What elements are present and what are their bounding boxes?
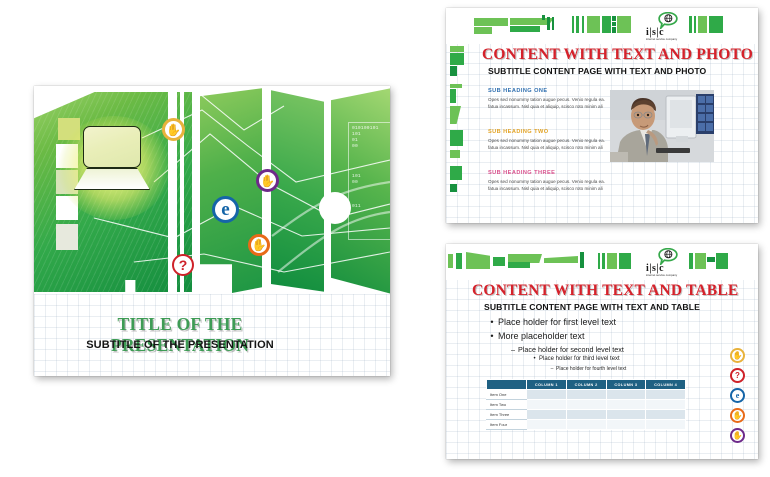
- list-item-label: Place holder for second level text: [518, 344, 624, 355]
- sub-heading-one: SUB HEADING ONE: [488, 88, 548, 94]
- table-cell[interactable]: [606, 400, 646, 410]
- binary-digits: 010100101 101 01 00 101 00 011: [352, 126, 379, 210]
- sub-heading-three: SUB HEADING THREE: [488, 170, 555, 176]
- row-label: Item One: [487, 390, 527, 400]
- row-label: Item Two: [487, 400, 527, 410]
- column-header-4: COLUMN 4: [646, 380, 686, 390]
- handshake-purple-icon[interactable]: ✋: [256, 169, 279, 192]
- row-label: Item Four: [487, 420, 527, 430]
- table-cell[interactable]: [606, 410, 646, 420]
- table-cell[interactable]: [527, 400, 567, 410]
- list-item: – Place holder for fourth level text: [548, 365, 716, 374]
- table-cell[interactable]: [646, 420, 686, 430]
- list-item-label: Place holder for third level text: [539, 355, 620, 365]
- sub-heading-two: SUB HEADING TWO: [488, 129, 549, 135]
- bullet-marker: •: [530, 355, 539, 365]
- hand-orange-icon[interactable]: ✋: [730, 408, 745, 423]
- column-header-2: COLUMN 2: [566, 380, 606, 390]
- slide-heading: CONTENT WITH TEXT AND PHOTO: [482, 46, 753, 64]
- handshake-purple-icon[interactable]: ✋: [730, 428, 745, 443]
- body-text-three: Opes sed nonummy tation augue pecus. Ven…: [488, 179, 606, 192]
- list-item-label: Place holder for first level text: [498, 316, 616, 329]
- table-header-row: COLUMN 1 COLUMN 2 COLUMN 3 COLUMN 4: [487, 380, 686, 390]
- slide-heading: CONTENT WITH TEXT AND TABLE: [472, 282, 738, 300]
- table-cell[interactable]: [646, 400, 686, 410]
- bullet-marker: •: [486, 316, 498, 329]
- laptop-keyboard-base: [74, 168, 150, 190]
- column-header-1: COLUMN 1: [527, 380, 567, 390]
- list-item: – Place holder for second level text: [508, 344, 716, 355]
- bullet-marker: •: [486, 330, 498, 343]
- table-body: Item One Item Two Item Three: [487, 390, 686, 430]
- table-cell[interactable]: [566, 390, 606, 400]
- cover-slide[interactable]: 010100101 101 01 00 101 00 011 ✋ ✋ e ✋ ?…: [34, 86, 390, 376]
- slide-subheading: SUBTITLE CONTENT PAGE WITH TEXT AND PHOT…: [488, 66, 706, 76]
- laptop-illustration: [74, 124, 154, 204]
- internet-explorer-e-icon[interactable]: e: [730, 388, 745, 403]
- list-item: • Place holder for third level text: [530, 355, 716, 365]
- slide-subheading: SUBTITLE CONTENT PAGE WITH TEXT AND TABL…: [484, 302, 700, 312]
- table-cell[interactable]: [566, 410, 606, 420]
- table-row[interactable]: Item Two: [487, 400, 686, 410]
- presentation-template-preview: 010100101 101 01 00 101 00 011 ✋ ✋ e ✋ ?…: [0, 0, 770, 477]
- side-decoration-strip: [446, 44, 472, 223]
- handshake-gold-icon[interactable]: ✋: [162, 118, 185, 141]
- content-text-photo-slide[interactable]: i|s|c internet service company CONTENT W…: [446, 8, 758, 223]
- table-row[interactable]: Item Three: [487, 410, 686, 420]
- logo-tagline: internet service company: [646, 273, 677, 277]
- question-mark-icon[interactable]: ?: [730, 368, 745, 383]
- white-node-circle: [319, 192, 351, 224]
- table-cell[interactable]: [566, 400, 606, 410]
- placeholder-table[interactable]: COLUMN 1 COLUMN 2 COLUMN 3 COLUMN 4 Item…: [486, 379, 686, 430]
- table-cell[interactable]: [527, 420, 567, 430]
- bullet-marker: –: [508, 344, 518, 355]
- table-cell[interactable]: [606, 390, 646, 400]
- businessman-at-computer-photo: [610, 90, 714, 162]
- bullet-list: • Place holder for first level text • Mo…: [486, 316, 716, 373]
- table-row[interactable]: Item One: [487, 390, 686, 400]
- table-cell[interactable]: [527, 390, 567, 400]
- table-cell[interactable]: [566, 420, 606, 430]
- isc-logo[interactable]: i|s|c internet service company: [644, 248, 686, 278]
- content-text-table-slide[interactable]: i|s|c internet service company CONTENT W…: [446, 244, 758, 459]
- list-item: • Place holder for first level text: [486, 316, 716, 329]
- handshake-gold-icon[interactable]: ✋: [730, 348, 745, 363]
- table-header: COLUMN 1 COLUMN 2 COLUMN 3 COLUMN 4: [487, 380, 686, 390]
- laptop-screen: [83, 126, 141, 168]
- isc-logo[interactable]: i|s|c internet service company: [644, 12, 686, 42]
- column-header-3: COLUMN 3: [606, 380, 646, 390]
- internet-explorer-e-icon[interactable]: e: [212, 196, 239, 223]
- table-row[interactable]: Item Four: [487, 420, 686, 430]
- table-cell[interactable]: [527, 410, 567, 420]
- icon-rail: ✋ ? e ✋ ✋: [730, 348, 750, 448]
- hand-orange-icon[interactable]: ✋: [248, 234, 270, 256]
- question-mark-icon[interactable]: ?: [172, 254, 194, 276]
- swatch-grey: [56, 224, 78, 250]
- table-cell[interactable]: [646, 410, 686, 420]
- table-cell[interactable]: [646, 390, 686, 400]
- list-item: • More placeholder text: [486, 330, 716, 343]
- list-item-label: Place holder for fourth level text: [556, 365, 626, 374]
- body-text-one: Opes sed nonummy tation augue pecus. Ven…: [488, 97, 606, 110]
- logo-tagline: internet service company: [646, 37, 677, 41]
- row-label: Item Three: [487, 410, 527, 420]
- list-item-label: More placeholder text: [498, 330, 585, 343]
- table-cell[interactable]: [606, 420, 646, 430]
- table-corner-cell: [487, 380, 527, 390]
- body-text-two: Opes sed nonummy tation augue pecus. Ven…: [488, 138, 606, 151]
- cover-text-area: TITLE OF THE PRESENTATION SUBTITLE OF TH…: [34, 294, 390, 376]
- bullet-marker: –: [548, 365, 556, 374]
- header-decoration-band: i|s|c internet service company: [446, 244, 758, 280]
- page-subtitle: SUBTITLE OF THE PRESENTATION: [50, 339, 310, 351]
- header-decoration-band: i|s|c internet service company: [446, 8, 758, 44]
- cover-artwork: 010100101 101 01 00 101 00 011 ✋ ✋ e ✋ ?: [34, 86, 390, 294]
